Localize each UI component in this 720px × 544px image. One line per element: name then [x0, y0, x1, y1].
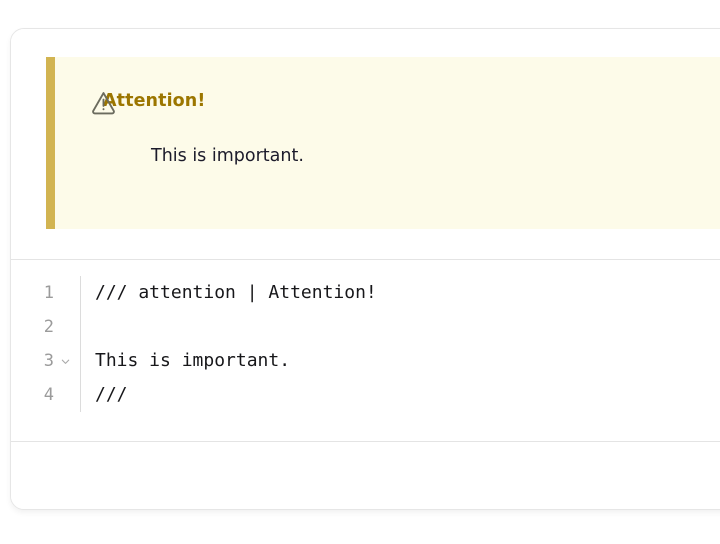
line-number-gutter: 1 2 3 4	[11, 276, 81, 412]
rendered-preview-pane: Attention! This is important.	[11, 29, 720, 260]
admonition-title: Attention!	[103, 93, 205, 111]
line-number: 2	[42, 310, 54, 344]
admonition-body-text: This is important.	[55, 146, 720, 167]
gutter-row: 2	[11, 310, 80, 344]
code-line[interactable]: /// attention | Attention!	[95, 276, 720, 310]
admonition-body: Attention! This is important.	[55, 57, 720, 229]
admonition-attention: Attention! This is important.	[46, 57, 720, 229]
warning-triangle-icon	[90, 89, 117, 116]
chevron-down-icon[interactable]	[58, 356, 72, 367]
code-line[interactable]: ///	[95, 378, 720, 412]
gutter-row: 1	[11, 276, 80, 310]
code-editor-pane[interactable]: 1 2 3 4	[11, 260, 720, 442]
card-footer	[11, 442, 720, 509]
admonition-title-row: Attention!	[55, 87, 720, 117]
line-number: 1	[42, 276, 54, 310]
admonition-accent-bar	[46, 57, 55, 229]
code-text-area[interactable]: /// attention | Attention! This is impor…	[81, 276, 720, 412]
gutter-row: 3	[11, 344, 80, 378]
line-number: 4	[42, 378, 54, 412]
line-number: 3	[42, 344, 54, 378]
code-line[interactable]	[95, 310, 720, 344]
gutter-row: 4	[11, 378, 80, 412]
admonition-preview-card: Attention! This is important. 1 2	[10, 28, 720, 510]
code-line[interactable]: This is important.	[95, 344, 720, 378]
